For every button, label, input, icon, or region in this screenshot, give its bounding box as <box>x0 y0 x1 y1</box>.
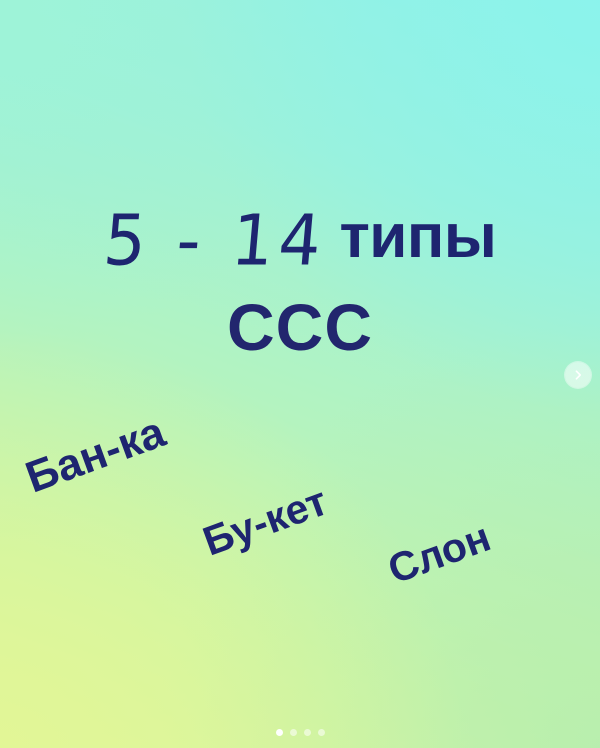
next-slide-button[interactable] <box>565 362 591 388</box>
pagination-dot-1[interactable] <box>276 729 283 736</box>
word-label-buket: Бу-кет <box>197 478 334 566</box>
word-label-banka: Бан-ка <box>19 407 171 503</box>
headline-block: 5 - 14типы ССС <box>0 206 600 360</box>
word-label-slon: Слон <box>382 514 497 594</box>
story-slide: 5 - 14типы ССС Бан-ка Бу-кет Слон <box>0 0 600 748</box>
pagination-dot-4[interactable] <box>318 729 325 736</box>
typy-label: типы <box>339 206 496 268</box>
chevron-right-icon <box>572 369 584 381</box>
pagination-dot-2[interactable] <box>290 729 297 736</box>
pagination-dot-3[interactable] <box>304 729 311 736</box>
pagination-dots[interactable] <box>0 729 600 736</box>
handwritten-range-label: 5 - 14 <box>101 206 329 276</box>
headline-line-1: 5 - 14типы <box>0 206 600 272</box>
ccc-label: ССС <box>0 294 600 360</box>
